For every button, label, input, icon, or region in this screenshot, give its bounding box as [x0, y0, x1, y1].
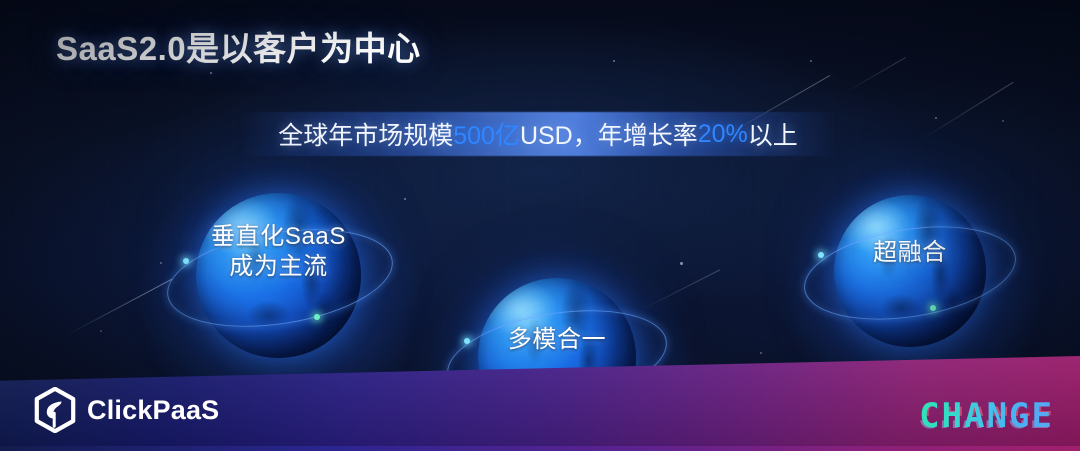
hexagon-leaf-logo-icon	[34, 387, 76, 433]
slide-root: SaaS2.0是以客户为中心 全球年市场规模 500亿USD，年增长率20%以上…	[0, 0, 1080, 451]
brand-logo: ClickPaaS	[34, 387, 219, 433]
change-watermark-text: CHANGE	[919, 396, 1054, 436]
brand-name: ClickPaaS	[87, 395, 219, 426]
change-watermark: CHANGE CHANGE CHANGE	[919, 395, 1054, 437]
footer-bottom-strip	[0, 446, 1080, 451]
